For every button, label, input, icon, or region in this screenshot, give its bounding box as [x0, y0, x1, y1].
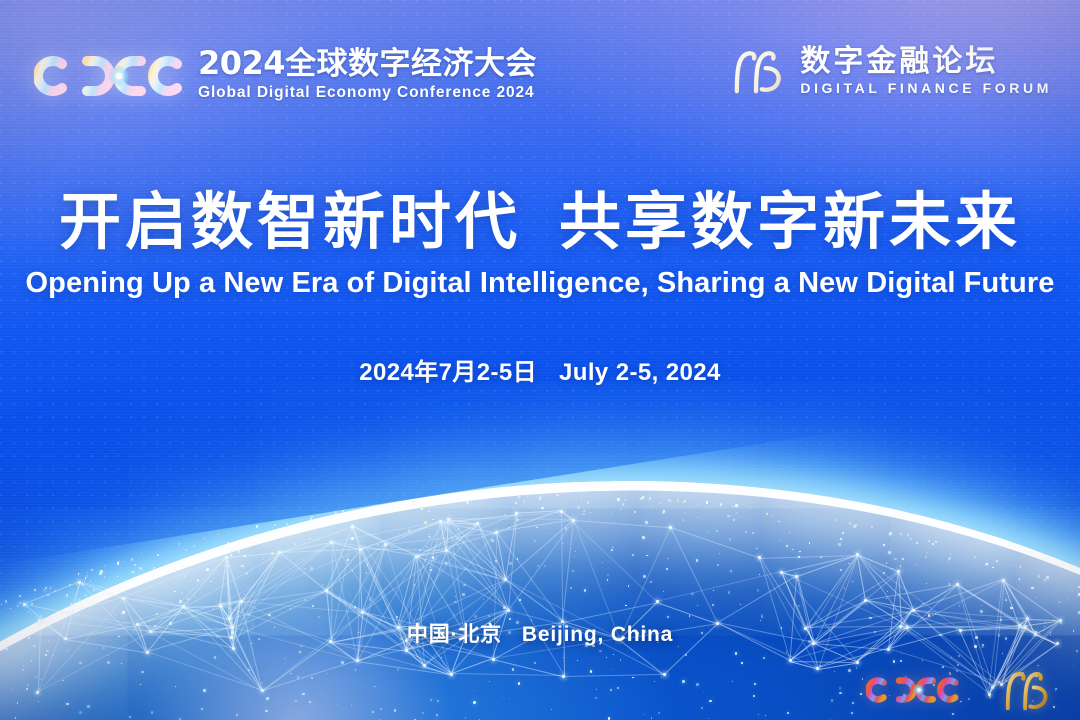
slogan-cn-part1: 开启数智新时代	[59, 188, 521, 257]
event-location-en: Beijing, China	[522, 623, 673, 646]
gdec-logo-icon	[34, 48, 204, 104]
conference-year: 2024	[198, 44, 285, 82]
ff-monogram-icon	[1000, 668, 1052, 712]
conference-backdrop-screen: 2024全球数字经济大会 Global Digital Economy Conf…	[0, 0, 1080, 720]
conference-title-group: 2024全球数字经济大会 Global Digital Economy Conf…	[198, 47, 537, 102]
gdec-logo-icon	[866, 670, 972, 710]
conference-title-cn: 2024全球数字经济大会	[198, 47, 537, 81]
main-slogan-block: 开启数智新时代共享数字新未来 Opening Up a New Era of D…	[0, 190, 1080, 300]
slogan-cn-part2: 共享数字新未来	[559, 188, 1021, 257]
event-location-cn: 中国·北京	[407, 623, 502, 646]
backdrop-header: 2024全球数字经济大会 Global Digital Economy Conf…	[0, 0, 1080, 130]
conference-title-cn-rest: 全球数字经济大会	[285, 46, 537, 81]
slogan-en: Opening Up a New Era of Digital Intellig…	[0, 267, 1080, 300]
footer-logo-group	[866, 668, 1052, 712]
event-date-cn: 2024年7月2-5日	[359, 359, 537, 386]
slogan-cn: 开启数智新时代共享数字新未来	[0, 190, 1080, 257]
event-location-line: 中国·北京Beijing, China	[0, 618, 1080, 648]
forum-title-group: 数字金融论坛 DIGITAL FINANCE FORUM	[800, 46, 1052, 96]
event-date-en: July 2-5, 2024	[559, 359, 721, 386]
event-date-line: 2024年7月2-5日July 2-5, 2024	[0, 352, 1080, 387]
digital-finance-forum-logo-group: 数字金融论坛 DIGITAL FINANCE FORUM	[728, 46, 1052, 96]
ff-monogram-icon	[728, 47, 786, 95]
forum-title-en: DIGITAL FINANCE FORUM	[800, 80, 1052, 96]
forum-title-cn: 数字金融论坛	[800, 46, 1052, 77]
conference-title-en: Global Digital Economy Conference 2024	[198, 84, 537, 102]
